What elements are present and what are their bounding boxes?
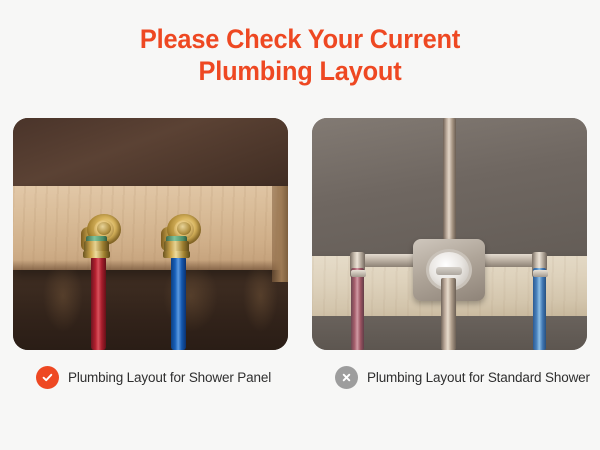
check-icon	[36, 366, 59, 389]
wood-grain	[43, 260, 83, 332]
brass-elbow-hot	[81, 214, 121, 254]
page-title: Please Check Your Current Plumbing Layou…	[0, 24, 600, 88]
elbow-nut	[163, 251, 190, 258]
board-end-grain	[272, 186, 288, 282]
tub-spout-drop-pipe	[441, 278, 456, 350]
wood-board	[13, 186, 288, 270]
caption-label: Plumbing Layout for Standard Shower	[367, 370, 590, 385]
elbow-nut	[83, 251, 110, 258]
pipe-clamp	[351, 270, 366, 277]
panel-captions: Plumbing Layout for Shower Panel Plumbin…	[13, 362, 587, 392]
panel-standard-shower-layout[interactable]	[312, 118, 587, 350]
chrome-cross-pipe-right	[477, 254, 535, 267]
red-pex-pipe	[351, 268, 364, 350]
pipe-clamp	[533, 270, 548, 277]
page-title-line-2: Plumbing Layout	[18, 56, 582, 88]
brass-elbow-cold	[161, 214, 201, 254]
wall-upper	[13, 118, 288, 192]
blue-pex-pipe	[171, 256, 186, 350]
close-icon	[335, 366, 358, 389]
caption-standard-shower-layout: Plumbing Layout for Standard Shower	[312, 362, 587, 392]
caption-shower-panel-layout: Plumbing Layout for Shower Panel	[13, 362, 288, 392]
panel-shower-panel-layout[interactable]	[13, 118, 288, 350]
blue-pex-pipe	[533, 268, 546, 350]
comparison-panels	[13, 118, 587, 350]
red-pex-pipe	[91, 256, 106, 350]
caption-label: Plumbing Layout for Shower Panel	[68, 370, 271, 385]
page-title-line-1: Please Check Your Current	[18, 24, 582, 56]
